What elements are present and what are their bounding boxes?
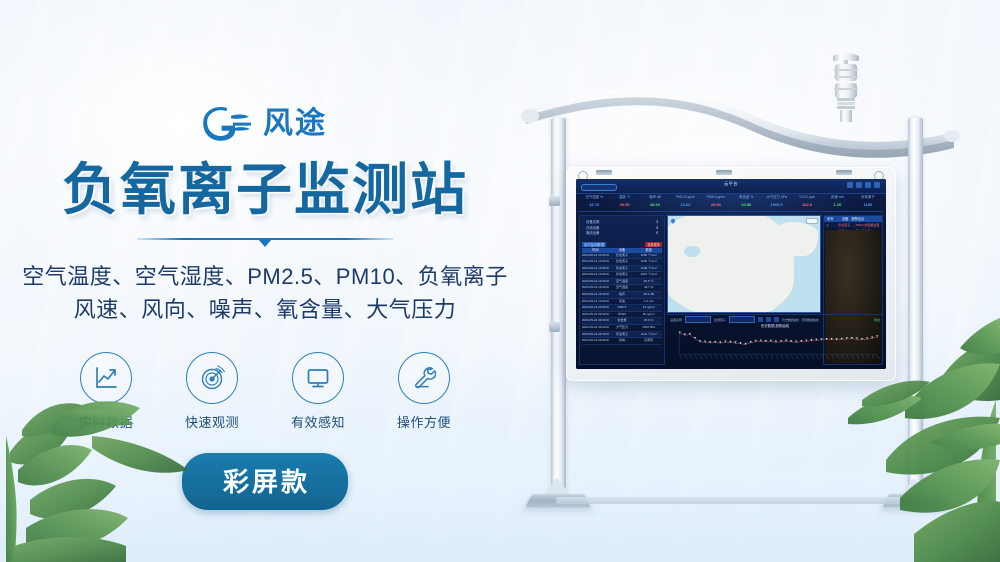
metric-label: PM2.5 ug/m³ [670, 194, 700, 201]
table-header-bar: 实时监测数据 查看更多 [582, 242, 662, 247]
alarm-row: 1负氧离子监测站PM10 浓度超出阈值，请注意 [824, 222, 882, 228]
alarm-cell: PM10 浓度超出阈值，请注意 [853, 222, 882, 228]
post-bracket-lug [549, 196, 560, 206]
line-chart-icon [93, 365, 119, 391]
monitor-screen-icon [305, 365, 331, 391]
canopy-roof [520, 86, 960, 166]
map-lake [684, 246, 700, 257]
cabinet-hinge [836, 170, 852, 175]
table-title: 实时监测数据 [582, 242, 606, 247]
support-post-right [908, 118, 923, 500]
table-cell: 2023-05-21 09:20:00 [582, 325, 609, 331]
table-row[interactable]: 2023-05-21 09:00:00风向东南风 [582, 338, 662, 345]
trend-line-chart [670, 329, 880, 363]
metric-value: 43.70 [579, 201, 609, 209]
support-post-left [551, 118, 566, 500]
table-cell: 2023-05-21 09:40:00 [582, 312, 609, 318]
chart-legend-item-2: 预测数据曲线 [802, 318, 819, 322]
divider-arrow-icon [258, 239, 272, 247]
table-row[interactable]: 2023-05-21 10:00:00风速1.2 m/s [582, 299, 662, 306]
table-row[interactable]: 2023-05-21 10:20:00空气湿度43.7 % [582, 285, 662, 292]
feature-item-realtime-data[interactable]: 实时数据 [67, 352, 145, 431]
display-cabinet: 云平台 空气湿度 %43.70温度 ℃26.50噪声 dB48.20PM2.5 … [566, 167, 896, 381]
table-cell: 2023-05-21 09:30:00 [582, 318, 609, 324]
chart-legend-item-1: 历史数据曲线 [782, 318, 799, 322]
table-cell: 大气压力 [609, 325, 636, 331]
table-cell: 2023-05-21 10:30:00 [582, 279, 609, 285]
radar-scan-icon [199, 365, 225, 391]
table-cell: 风速 [609, 299, 636, 305]
table-body[interactable]: 2023-05-21 11:00:00负氧离子1180 个/cm³2023-05… [582, 253, 662, 345]
subtitle-line-1: 空气温度、空气湿度、PM2.5、PM10、负氧离子 [0, 260, 530, 293]
ground-rail [556, 497, 901, 504]
feature-circle [80, 352, 132, 404]
table-row[interactable]: 2023-05-21 09:50:00PM2.513 ug/m³ [582, 305, 662, 312]
table-cell: 2023-05-21 09:10:00 [582, 332, 609, 338]
table-cell: 2023-05-21 10:00:00 [582, 299, 609, 305]
table-cell: 1156 个/cm³ [635, 259, 662, 265]
metric-value: 20.80 [731, 201, 761, 209]
table-row[interactable]: 2023-05-21 10:40:00负氧离子1097 个/cm³ [582, 272, 662, 279]
chart-plot-area [670, 329, 880, 363]
table-cell: 2023-05-21 10:10:00 [582, 292, 609, 298]
metric-label: 大气压力 hPa [761, 194, 791, 201]
table-cell: 噪声 [609, 292, 636, 298]
table-cell: 1180 个/cm³ [635, 253, 662, 259]
table-cell: 48.2 dB [635, 292, 662, 298]
metric-label: 氧含量 % [731, 194, 761, 201]
metric-card: 氧含量 %20.80 [731, 194, 761, 211]
cabinet-hinge [596, 170, 612, 175]
ultrasonic-weather-sensor-icon [823, 52, 869, 124]
device-stats: 设备总数3在线设备3离线设备0 [580, 216, 664, 239]
feature-circle [292, 352, 344, 404]
table-row[interactable]: 2023-05-21 10:10:00噪声48.2 dB [582, 292, 662, 299]
table-cell: 20.8 % [635, 318, 662, 324]
table-cell: 氧含量 [609, 318, 636, 324]
table-cell: 26.5 ℃ [635, 279, 662, 285]
wrench-icon [411, 365, 437, 391]
metrics-divider [579, 211, 883, 212]
metric-value: 26.00 [701, 201, 731, 209]
alarm-table-body: 1负氧离子监测站PM10 浓度超出阈值，请注意 [824, 222, 882, 228]
metric-label: 噪声 dB [640, 194, 670, 201]
feature-item-effective-sensing[interactable]: 有效感知 [279, 352, 357, 431]
feature-circle [186, 352, 238, 404]
table-cell: 2023-05-21 11:00:00 [582, 259, 609, 265]
table-cell: 负氧离子 [609, 259, 636, 265]
metric-card: PM10 ug/m³26.00 [701, 194, 731, 211]
map-widget[interactable] [667, 215, 821, 313]
cabinet-hinge [716, 170, 732, 175]
metric-card: 空气湿度 %43.70 [579, 194, 609, 211]
feature-label: 有效感知 [279, 412, 357, 431]
metric-value: 1180 [853, 201, 883, 209]
chart-range-button[interactable] [774, 317, 779, 322]
table-cell: 东南风 [635, 338, 662, 344]
chart-export-button[interactable]: 导出 [874, 318, 880, 322]
table-cell: 2023-05-21 11:00:00 [582, 253, 609, 259]
metric-card: TVOC ppb102.0 [792, 194, 822, 211]
table-row[interactable]: 2023-05-21 10:30:00空气温度26.5 ℃ [582, 279, 662, 286]
chart-title: 历史数据 趋势曲线 [667, 323, 883, 328]
metric-value: 26.50 [609, 201, 639, 209]
lcd-screen[interactable]: 云平台 空气湿度 %43.70温度 ℃26.50噪声 dB48.20PM2.5 … [576, 179, 886, 369]
table-cell: 1.2 m/s [635, 299, 662, 305]
brand-lockup: 风途 [0, 102, 530, 146]
map-zoom-control[interactable] [806, 218, 818, 224]
table-cell: 43.7 % [635, 285, 662, 291]
poster-text-column: 风途 负氧离子监测站 空气温度、空气湿度、PM2.5、PM10、负氧离子 风速、… [0, 0, 530, 562]
feature-list: 实时数据 快速观测 [0, 352, 530, 431]
subtitle-line-2: 风速、风向、噪声、氧含量、大气压力 [0, 293, 530, 326]
metric-label: 风速 m/s [822, 194, 852, 201]
metric-card: 风速 m/s1.20 [822, 194, 852, 211]
table-cell: 1003 hPa [635, 325, 662, 331]
subtitle: 空气温度、空气湿度、PM2.5、PM10、负氧离子 风速、风向、噪声、氧含量、大… [0, 260, 530, 326]
table-cell: 空气湿度 [609, 285, 636, 291]
table-row[interactable]: 2023-05-21 11:00:00负氧离子1156 个/cm³ [582, 259, 662, 266]
trend-chart-widget[interactable]: 设备名称 监测因子 历史数据曲线 预测数据曲线 导出 历史数据 趋势曲线 [667, 314, 883, 365]
metric-label: TVOC ppb [792, 194, 822, 201]
cloud-platform-dashboard[interactable]: 云平台 空气湿度 %43.70温度 ℃26.50噪声 dB48.20PM2.5 … [576, 179, 886, 369]
feature-item-easy-operation[interactable]: 操作方便 [385, 352, 463, 431]
toolbar-icon[interactable] [874, 182, 880, 188]
metric-card: 噪声 dB48.20 [640, 194, 670, 211]
metric-label: 负氧离子 [853, 194, 883, 201]
poster-canvas: 云平台 空气湿度 %43.70温度 ℃26.50噪声 dB48.20PM2.5 … [0, 0, 1000, 562]
table-cell: 空气温度 [609, 279, 636, 285]
chart-factor-select[interactable] [729, 316, 755, 323]
table-row[interactable]: 2023-05-21 09:40:00PM1026 ug/m³ [582, 312, 662, 319]
metric-card: PM2.5 ug/m³13.00 [670, 194, 700, 211]
alarm-cell: 负氧离子监测站 [835, 222, 852, 228]
table-row[interactable]: 2023-05-21 09:10:00负氧离子1142 个/cm³ [582, 332, 662, 339]
table-cell: 26 ug/m³ [635, 312, 662, 318]
color-screen-model-button[interactable]: 彩屏款 [182, 453, 348, 510]
table-cell: 2023-05-21 09:00:00 [582, 338, 609, 344]
table-row[interactable]: 2023-05-21 10:50:00负氧离子1208 个/cm³ [582, 266, 662, 273]
stat-value: 0 [656, 231, 658, 237]
metric-value: 1003.0 [761, 201, 791, 209]
table-row[interactable]: 2023-05-21 09:30:00氧含量20.8 % [582, 318, 662, 325]
metric-label: 温度 ℃ [609, 194, 639, 201]
station-selector-chip[interactable] [581, 184, 617, 191]
table-cell: 负氧离子 [609, 272, 636, 278]
post-foot-gusset-left [544, 478, 570, 494]
view-more-button[interactable]: 查看更多 [645, 242, 662, 247]
table-cell: 1142 个/cm³ [635, 332, 662, 338]
feature-item-fast-observation[interactable]: 快速观测 [173, 352, 251, 431]
metric-value: 1.20 [822, 201, 852, 209]
table-cell: PM10 [609, 312, 636, 318]
table-cell: 负氧离子 [609, 332, 636, 338]
table-cell: 负氧离子 [609, 253, 636, 259]
feature-circle [398, 352, 450, 404]
table-cell: 2023-05-21 09:50:00 [582, 305, 609, 311]
map-landmass-south [746, 272, 780, 312]
device-stat-row: 离线设备0 [586, 231, 658, 237]
metric-card: 大气压力 hPa1003.0 [761, 194, 791, 211]
map-landmass-north [772, 222, 818, 256]
table-cell: 2023-05-21 10:20:00 [582, 285, 609, 291]
table-cell: 13 ug/m³ [635, 305, 662, 311]
chart-factor-label: 监测因子 [714, 318, 726, 322]
feature-label: 操作方便 [385, 412, 463, 431]
left-panel: 设备总数3在线设备3离线设备0 实时监测数据 查看更多 时间设备数值 2023-… [579, 215, 665, 365]
table-cell: 风向 [609, 338, 636, 344]
table-row[interactable]: 2023-05-21 09:20:00大气压力1003 hPa [582, 325, 662, 332]
metric-card: 负氧离子1180 [853, 194, 883, 211]
chart-range-button[interactable] [766, 317, 771, 322]
metric-label: 空气湿度 % [579, 194, 609, 201]
table-cell: 2023-05-21 10:50:00 [582, 266, 609, 272]
dashboard-title: 云平台 [576, 181, 886, 187]
feature-label: 实时数据 [67, 412, 145, 431]
table-cell: PM2.5 [609, 305, 636, 311]
title-divider [137, 236, 393, 248]
post-foot-gusset-right [901, 478, 927, 494]
chart-range-button[interactable] [758, 317, 763, 322]
brand-name: 风途 [263, 109, 327, 139]
table-cell: 2023-05-21 10:40:00 [582, 272, 609, 278]
cta-row: 彩屏款 [0, 453, 530, 510]
metric-value: 13.00 [670, 201, 700, 209]
metric-label: PM10 ug/m³ [701, 194, 731, 201]
toolbar-icon[interactable] [856, 182, 862, 188]
chart-device-select[interactable] [685, 316, 711, 323]
metric-value: 102.0 [792, 201, 822, 209]
stat-label: 离线设备 [586, 231, 600, 237]
fengtu-leaf-g-logo-icon [203, 107, 255, 141]
toolbar-icon[interactable] [865, 182, 871, 188]
chart-device-label: 设备名称 [670, 318, 682, 322]
feature-label: 快速观测 [173, 412, 251, 431]
table-cell: 1208 个/cm³ [635, 266, 662, 272]
post-bracket-lug [549, 322, 560, 332]
table-cell: 1097 个/cm³ [635, 272, 662, 278]
metrics-row: 空气湿度 %43.70温度 ℃26.50噪声 dB48.20PM2.5 ug/m… [579, 194, 883, 211]
table-cell: 负氧离子 [609, 266, 636, 272]
page-title: 负氧离子监测站 [0, 160, 530, 220]
dashboard-toolbar-icons[interactable] [847, 182, 880, 188]
metric-value: 48.20 [640, 201, 670, 209]
metric-card: 温度 ℃26.50 [609, 194, 639, 211]
toolbar-icon[interactable] [847, 182, 853, 188]
alarm-cell: 1 [824, 222, 835, 228]
table-row[interactable]: 2023-05-21 11:00:00负氧离子1180 个/cm³ [582, 253, 662, 260]
